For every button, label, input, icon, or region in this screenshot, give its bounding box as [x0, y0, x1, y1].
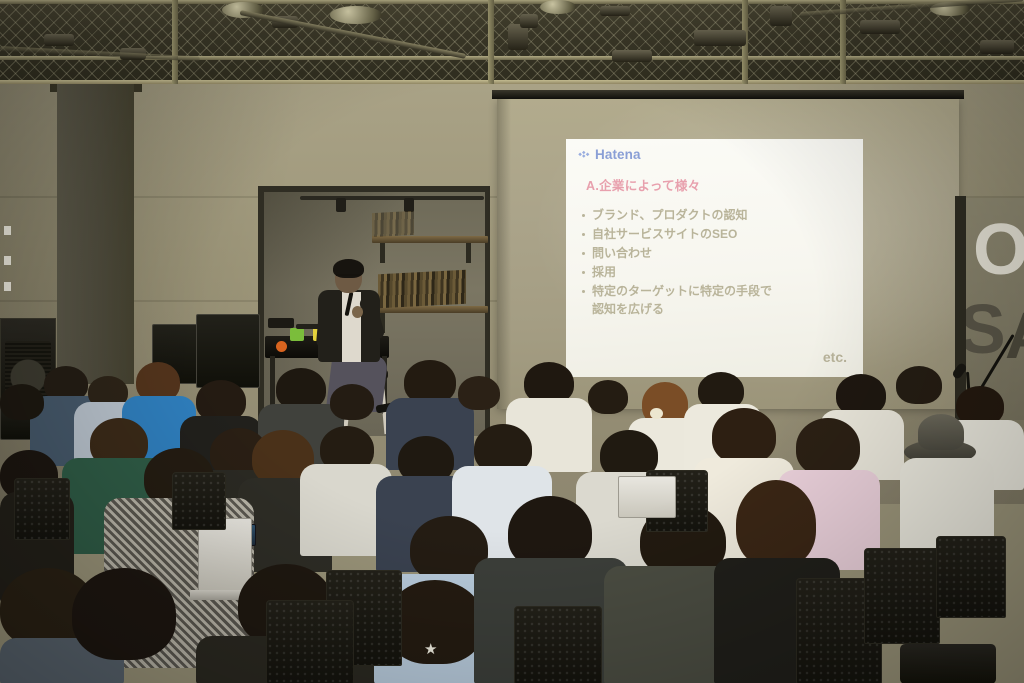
speaker-hand — [352, 306, 363, 318]
support-pillar — [57, 84, 134, 384]
bullet-dot-icon — [582, 252, 585, 255]
signage-tick — [4, 256, 11, 265]
stage-spotlight — [336, 198, 346, 212]
audience-chair — [266, 600, 354, 683]
bag — [900, 644, 996, 683]
ceiling-fixture — [520, 14, 538, 28]
slide-bullet-item: 問い合わせ — [582, 245, 854, 263]
hatena-logo: Hatena — [578, 147, 641, 162]
slide-bullet-item: 自社サービスサイトのSEO — [582, 226, 854, 244]
ceiling-fixture — [770, 6, 792, 26]
laptop-screen — [618, 476, 676, 518]
slide-title: A.企業によって様々 — [586, 175, 701, 194]
slide-bullet-item: 採用 — [582, 264, 854, 282]
presentation-slide: Hatena A.企業によって様々 ブランド、プロダクトの認知 自社サービスサイ… — [566, 139, 863, 377]
slide-bullet-item: 特定のターゲットに特定の手段で 認知を広げる — [582, 283, 854, 318]
hatena-wordmark: Hatena — [595, 147, 641, 162]
screen-roller-bar — [492, 90, 964, 99]
audience-head-long — [736, 480, 816, 568]
audience-head — [0, 384, 44, 420]
ceiling-fixture — [980, 40, 1014, 54]
slide-bullet-list: ブランド、プロダクトの認知 自社サービスサイトのSEO 問い合わせ 採用 特定の… — [582, 207, 854, 320]
bullet-text-line1: 特定のターゲットに特定の手段で — [592, 283, 854, 301]
audience-chair — [936, 536, 1006, 618]
ceiling-post — [488, 0, 494, 84]
bullet-dot-icon — [582, 214, 585, 217]
bullet-text-line2: 認知を広げる — [592, 301, 854, 319]
industrial-ceiling — [0, 0, 1024, 84]
bullet-text: 自社サービスサイトのSEO — [592, 226, 854, 244]
bullet-text-multiline: 特定のターゲットに特定の手段で 認知を広げる — [592, 283, 854, 318]
shelf-bracket — [466, 243, 471, 263]
audience-chair — [14, 478, 70, 540]
audience-head — [896, 366, 942, 404]
slide-bullet-item: ブランド、プロダクトの認知 — [582, 207, 854, 225]
shelf-books — [378, 270, 466, 309]
bullet-dot-icon — [582, 271, 585, 274]
audience-head-long — [796, 418, 860, 476]
audience-area: ★ — [0, 352, 1024, 683]
star-hair-clip: ★ — [424, 642, 437, 657]
bullet-text: 採用 — [592, 264, 854, 282]
orange-ball — [276, 341, 287, 352]
ceiling-fixture — [44, 34, 74, 46]
wall-shelf — [372, 236, 488, 243]
shelf-bracket — [380, 243, 385, 263]
hair-accessory — [650, 408, 663, 419]
ceiling-fixture — [612, 50, 652, 62]
fedora-hat — [918, 414, 964, 450]
audience-head — [330, 384, 374, 420]
stage-spotlight — [404, 198, 414, 212]
green-card — [290, 328, 304, 341]
table-equipment — [268, 318, 294, 328]
shelf-books — [372, 211, 414, 237]
bullet-dot-icon — [582, 290, 585, 293]
ceiling-light — [540, 0, 576, 14]
audience-chair — [864, 548, 940, 644]
audience-head — [588, 380, 628, 414]
ceiling-light — [330, 6, 382, 24]
ceiling-post — [172, 0, 178, 84]
audience-chair — [172, 472, 226, 530]
audience-chair — [514, 606, 602, 683]
bullet-text: 問い合わせ — [592, 245, 854, 263]
ceiling-rail — [0, 0, 1024, 4]
hatena-diamond-icon — [578, 148, 591, 161]
conference-photo: Hatena A.企業によって様々 ブランド、プロダクトの認知 自社サービスサイ… — [0, 0, 1024, 683]
signage-letter-o: O — [973, 214, 1024, 286]
speaker-eyeglasses — [336, 274, 360, 281]
truss-bar — [300, 196, 484, 200]
signage-tick — [4, 282, 11, 291]
audience-head-front — [72, 568, 176, 660]
ceiling-fixture — [694, 30, 746, 46]
audience-head-long — [712, 408, 776, 464]
audience-head — [458, 376, 500, 410]
bullet-dot-icon — [582, 233, 585, 236]
ceiling-fixture — [600, 6, 630, 16]
signage-tick — [4, 226, 11, 235]
ceiling-fixture — [860, 20, 900, 34]
bullet-text: ブランド、プロダクトの認知 — [592, 207, 854, 225]
